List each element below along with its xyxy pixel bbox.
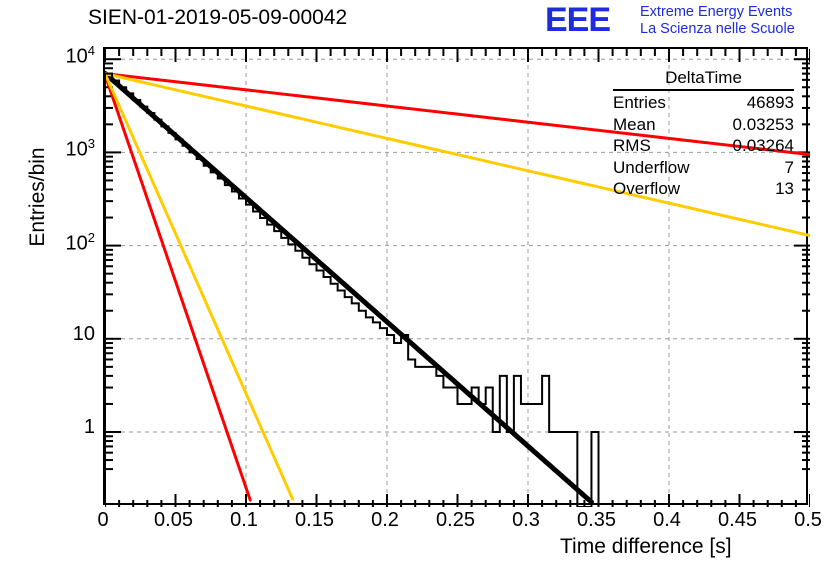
y-axis-title: Entries/bin [26, 97, 50, 297]
eee-logo: EEE Extreme Energy Events La Scienza nel… [545, 2, 835, 42]
x-tick-label: 0.25 [416, 509, 496, 532]
x-tick-label: 0.05 [134, 509, 214, 532]
stats-row: RMS0.03264 [613, 135, 794, 157]
eee-logo-line1: Extreme Energy Events [640, 4, 795, 21]
stats-value: 13 [775, 178, 794, 200]
x-tick-label: 0.5 [768, 509, 836, 532]
stats-row: Mean0.03253 [613, 114, 794, 136]
eee-logo-text: Extreme Energy Events La Scienza nelle S… [640, 4, 795, 38]
x-tick-label: 0.1 [204, 509, 284, 532]
stats-key: Overflow [613, 178, 680, 200]
stats-value: 0.03253 [733, 114, 794, 136]
stats-value: 7 [785, 157, 794, 179]
x-tick-label: 0.35 [557, 509, 637, 532]
fit-curve [105, 74, 293, 499]
stats-value: 0.03264 [733, 135, 794, 157]
x-tick-label: 0.3 [486, 509, 566, 532]
y-tick-label: 10 [25, 323, 95, 346]
y-tick-label: 102 [25, 230, 95, 256]
root-plot-canvas: SIEN-01-2019-05-09-00042 EEE Extreme Ene… [0, 0, 836, 572]
y-tick-label: 103 [25, 136, 95, 162]
y-tick-label: 104 [25, 43, 95, 69]
x-tick-label: 0.45 [698, 509, 778, 532]
stats-row: Overflow13 [613, 178, 794, 200]
stats-rows: Entries46893Mean0.03253RMS0.03264Underfl… [613, 92, 794, 200]
stats-row: Entries46893 [613, 92, 794, 114]
stats-value: 46893 [747, 92, 794, 114]
x-axis-title: Time difference [s] [560, 535, 732, 559]
y-tick-label: 1 [25, 416, 95, 439]
stats-key: Entries [613, 92, 666, 114]
eee-logo-mark: EEE [545, 3, 610, 37]
page-title: SIEN-01-2019-05-09-00042 [88, 6, 347, 30]
stats-key: Mean [613, 114, 656, 136]
stats-row: Underflow7 [613, 157, 794, 179]
x-tick-label: 0.15 [275, 509, 355, 532]
stats-title: DeltaTime [613, 68, 794, 91]
x-tick-label: 0 [63, 509, 143, 532]
stats-key: Underflow [613, 157, 690, 179]
x-tick-label: 0.2 [345, 509, 425, 532]
stats-key: RMS [613, 135, 651, 157]
stats-box: DeltaTime Entries46893Mean0.03253RMS0.03… [613, 68, 794, 200]
eee-logo-line2: La Scienza nelle Scuole [640, 21, 795, 38]
x-tick-label: 0.4 [627, 509, 707, 532]
